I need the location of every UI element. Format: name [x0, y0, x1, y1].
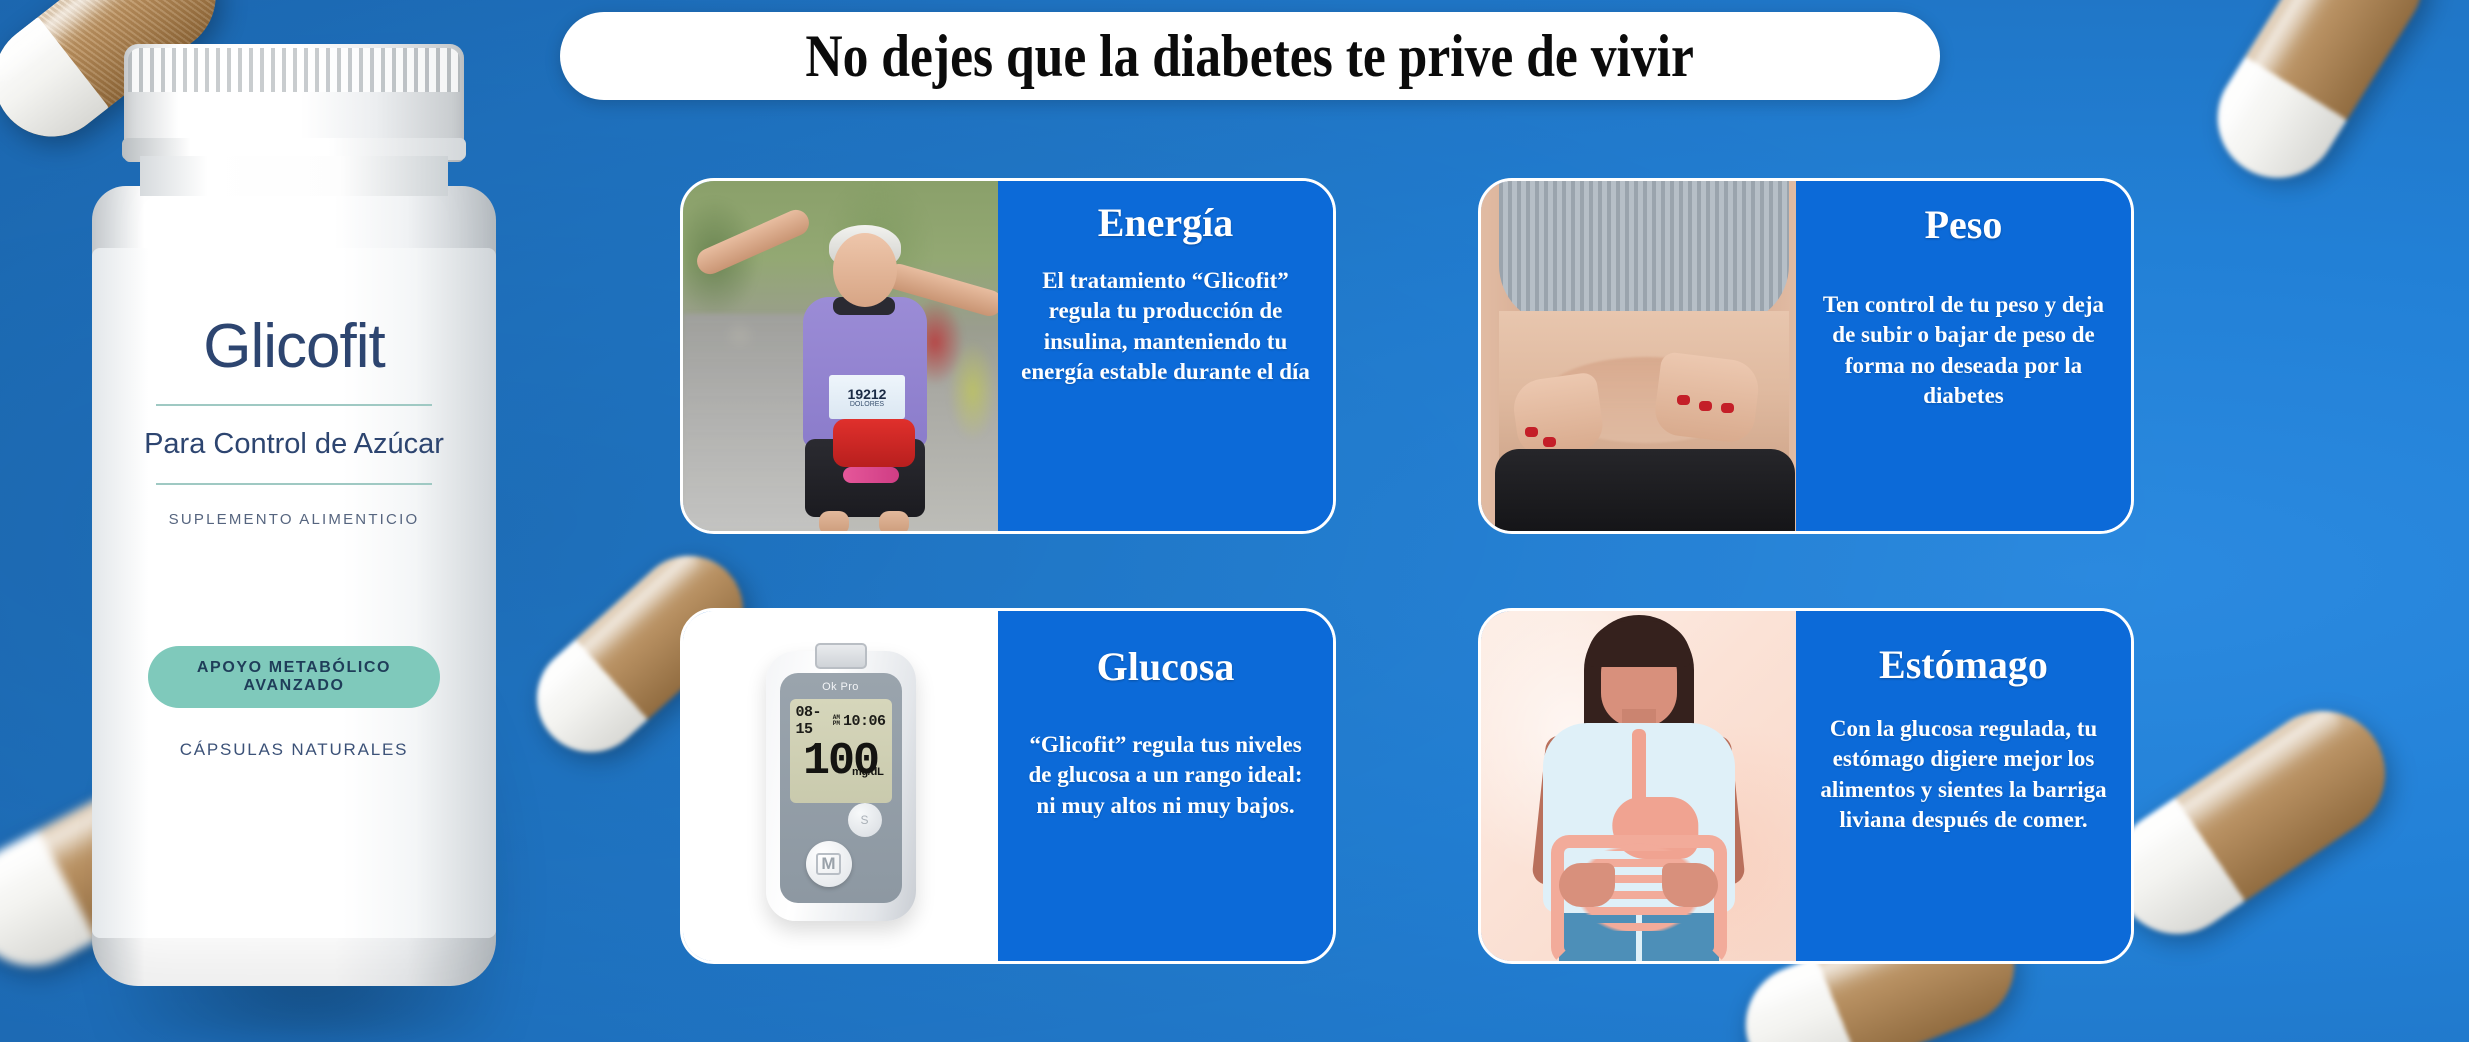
headline-banner: No dejes que la diabetes te prive de viv… — [560, 12, 1940, 100]
product-badge: APOYO METABÓLICO AVANZADO — [148, 646, 440, 708]
set-button-label: S — [860, 813, 868, 827]
card-title-estomago: Estómago — [1879, 641, 2048, 688]
bottle-label: Glicofit Para Control de Azúcar SUPLEMEN… — [92, 248, 496, 938]
product-tagline: Para Control de Azúcar — [114, 428, 474, 461]
product-bottle: Glicofit Para Control de Azúcar SUPLEMEN… — [78, 18, 518, 1028]
headline-text: No dejes que la diabetes te prive de viv… — [806, 22, 1695, 91]
card-title-energia: Energía — [1098, 199, 1234, 246]
glucometer-strip-slot — [815, 643, 867, 669]
card-title-glucosa: Glucosa — [1097, 643, 1235, 690]
benefit-card-peso[interactable]: Peso Ten control de tu peso y deja de su… — [1478, 178, 2134, 534]
label-divider-top — [156, 404, 432, 406]
card-body-energia: El tratamiento “Glicofit” regula tu prod… — [1016, 266, 1315, 387]
card-body-estomago: Con la glucosa regulada, tu estómago dig… — [1814, 714, 2113, 835]
memory-button-label: M — [816, 853, 840, 875]
benefit-card-glucosa[interactable]: Ok Pro 08-15 AM PM 10:06 — [680, 608, 1336, 964]
glucometer-device: Ok Pro 08-15 AM PM 10:06 — [766, 651, 916, 921]
card-media-digestion — [1481, 611, 1796, 961]
race-bib-name: DOLORES — [850, 401, 884, 408]
bottle-neck — [140, 156, 448, 196]
product-supplement-line: SUPLEMENTO ALIMENTICIO — [114, 511, 474, 528]
lcd-reading: 100 — [803, 736, 878, 787]
card-panel-estomago: Estómago Con la glucosa regulada, tu est… — [1796, 611, 2131, 961]
card-body-peso: Ten control de tu peso y deja de subir o… — [1814, 290, 2113, 411]
label-divider-bottom — [156, 483, 432, 485]
card-panel-peso: Peso Ten control de tu peso y deja de su… — [1796, 181, 2131, 531]
glucometer-brand: Ok Pro — [780, 681, 902, 693]
glucometer-memory-button[interactable]: M — [806, 841, 852, 887]
benefit-card-estomago[interactable]: Estómago Con la glucosa regulada, tu est… — [1478, 608, 2134, 964]
card-panel-energia: Energía El tratamiento “Glicofit” regula… — [998, 181, 1333, 531]
glucometer-set-button[interactable]: S — [848, 803, 882, 837]
race-bib-number: 19212 — [848, 387, 887, 401]
card-media-waist — [1481, 181, 1796, 531]
benefit-card-energia[interactable]: 19212 DOLORES Energía El tratamiento “Gl… — [680, 178, 1336, 534]
card-panel-glucosa: Glucosa “Glicofit” regula tus niveles de… — [998, 611, 1333, 961]
card-title-peso: Peso — [1925, 201, 2003, 248]
race-bib: 19212 DOLORES — [829, 375, 905, 419]
glucometer-lcd: 08-15 AM PM 10:06 100 mg/dL — [790, 699, 892, 803]
bottle-cap-ribs — [128, 48, 460, 92]
product-capsule-line: CÁPSULAS NATURALES — [114, 740, 474, 760]
card-body-glucosa: “Glicofit” regula tus niveles de glucosa… — [1016, 730, 1315, 821]
lcd-unit: mg/dL — [852, 767, 884, 777]
lcd-date: 08-15 — [796, 704, 830, 738]
lcd-pm: PM — [833, 721, 840, 727]
lcd-time: 10:06 — [843, 713, 886, 730]
card-media-glucometer: Ok Pro 08-15 AM PM 10:06 — [683, 611, 998, 961]
card-media-runner: 19212 DOLORES — [683, 181, 998, 531]
product-brand-name: Glicofit — [114, 316, 474, 378]
ad-banner: Glicofit Para Control de Azúcar SUPLEMEN… — [0, 0, 2469, 1042]
